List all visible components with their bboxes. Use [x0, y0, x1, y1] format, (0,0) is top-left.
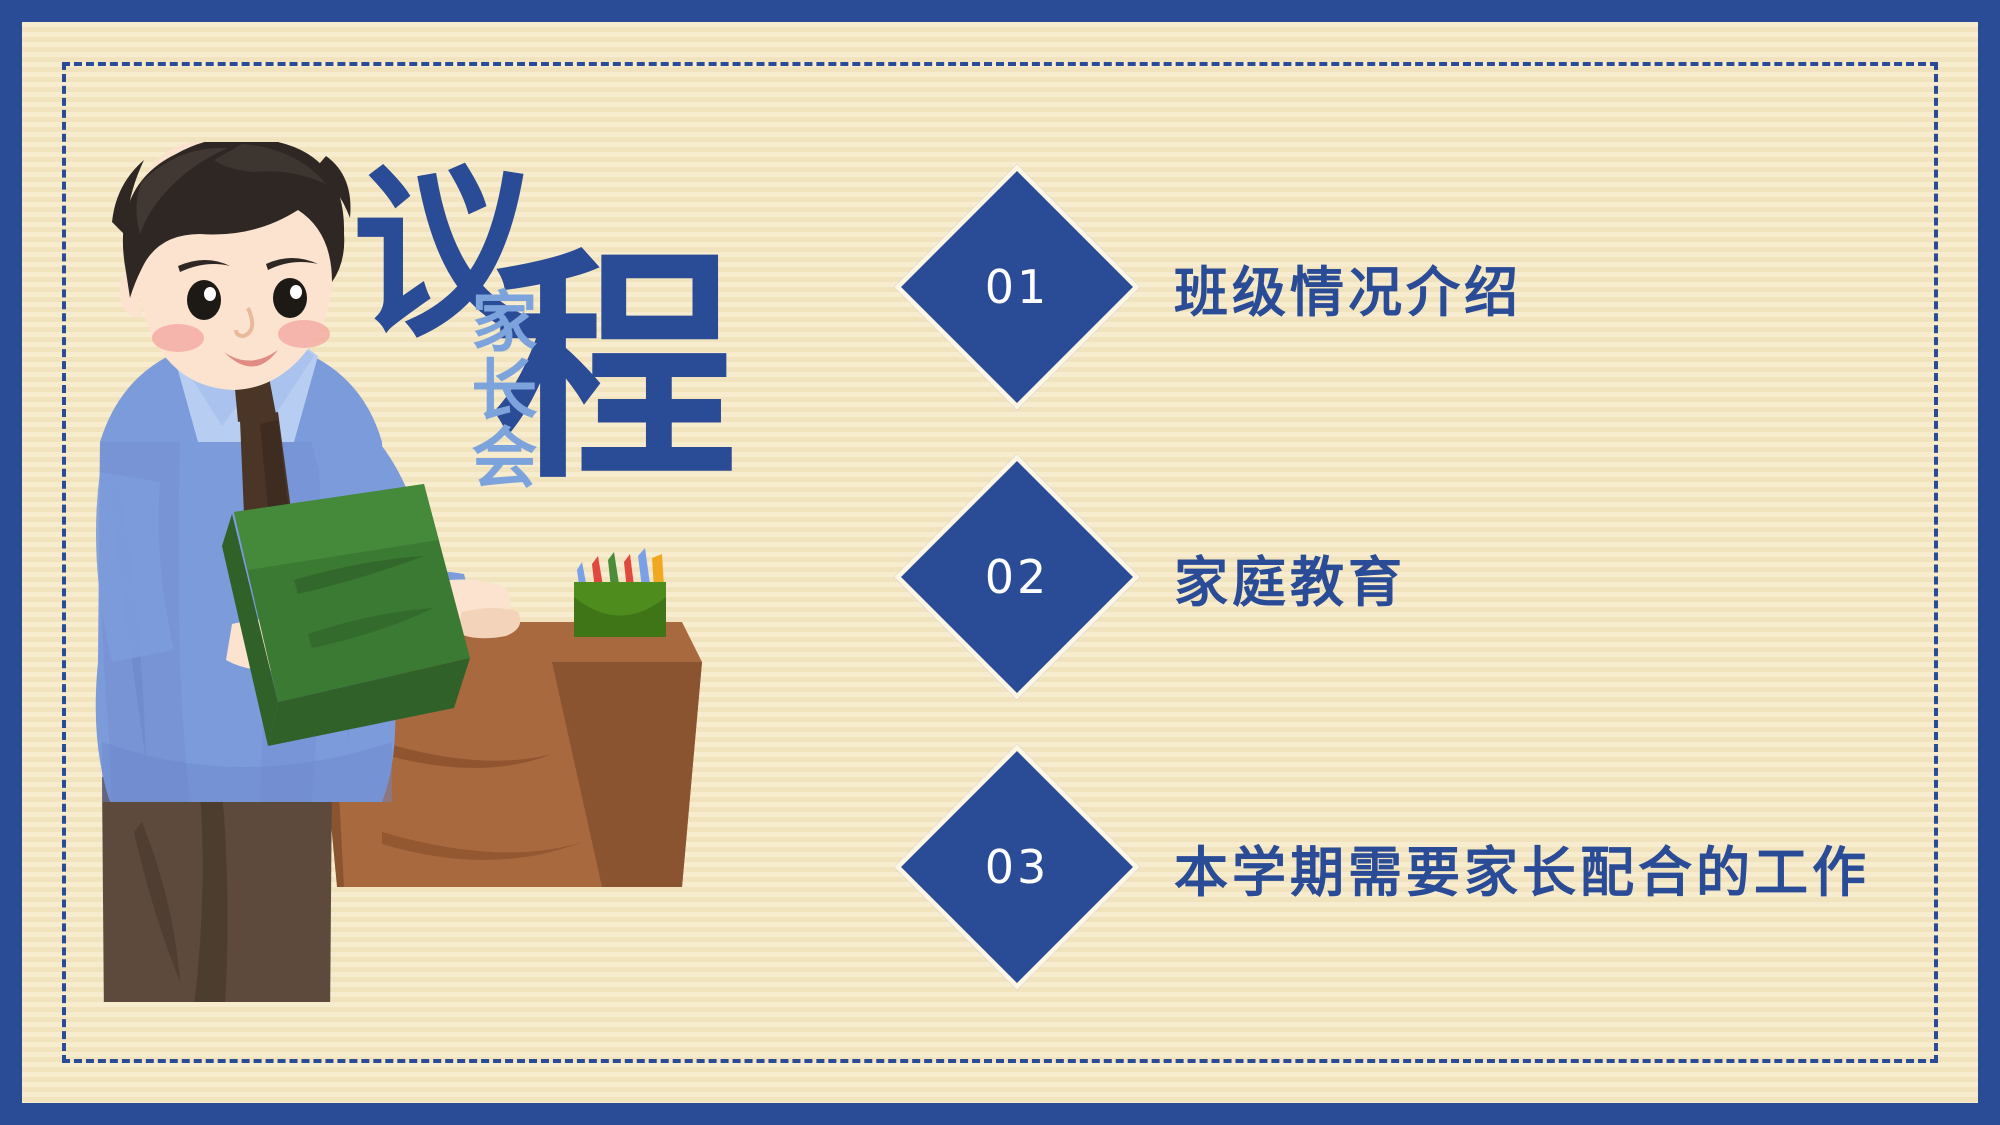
agenda-label-02: 家庭教育 — [1174, 538, 1406, 617]
trousers — [102, 777, 332, 1002]
green-book — [222, 484, 470, 746]
pencil-cup — [574, 548, 666, 637]
slide-root: 议 程 家长会 01 班级情况介绍 02 家庭教育 — [0, 0, 2000, 1125]
agenda-marker-02[interactable]: 02 — [902, 462, 1132, 692]
title-block: 议 程 家长会 — [352, 162, 812, 492]
agenda-label-03: 本学期需要家长配合的工作 — [1174, 828, 1870, 907]
agenda-marker-01[interactable]: 01 — [902, 172, 1132, 402]
agenda-list: 01 班级情况介绍 02 家庭教育 03 本学期需要家长配合的工作 — [902, 162, 1942, 1012]
agenda-marker-03[interactable]: 03 — [902, 752, 1132, 982]
head — [112, 142, 351, 390]
agenda-item-02[interactable]: 02 家庭教育 — [902, 462, 1406, 692]
agenda-number-01: 01 — [902, 172, 1132, 402]
agenda-item-03[interactable]: 03 本学期需要家长配合的工作 — [902, 752, 1870, 982]
agenda-number-03: 03 — [902, 752, 1132, 982]
slide-canvas: 议 程 家长会 01 班级情况介绍 02 家庭教育 — [22, 22, 1978, 1103]
agenda-number-02: 02 — [902, 462, 1132, 692]
agenda-item-01[interactable]: 01 班级情况介绍 — [902, 172, 1522, 402]
agenda-label-01: 班级情况介绍 — [1174, 248, 1522, 327]
title-vertical-subtitle: 家长会 — [467, 287, 530, 491]
